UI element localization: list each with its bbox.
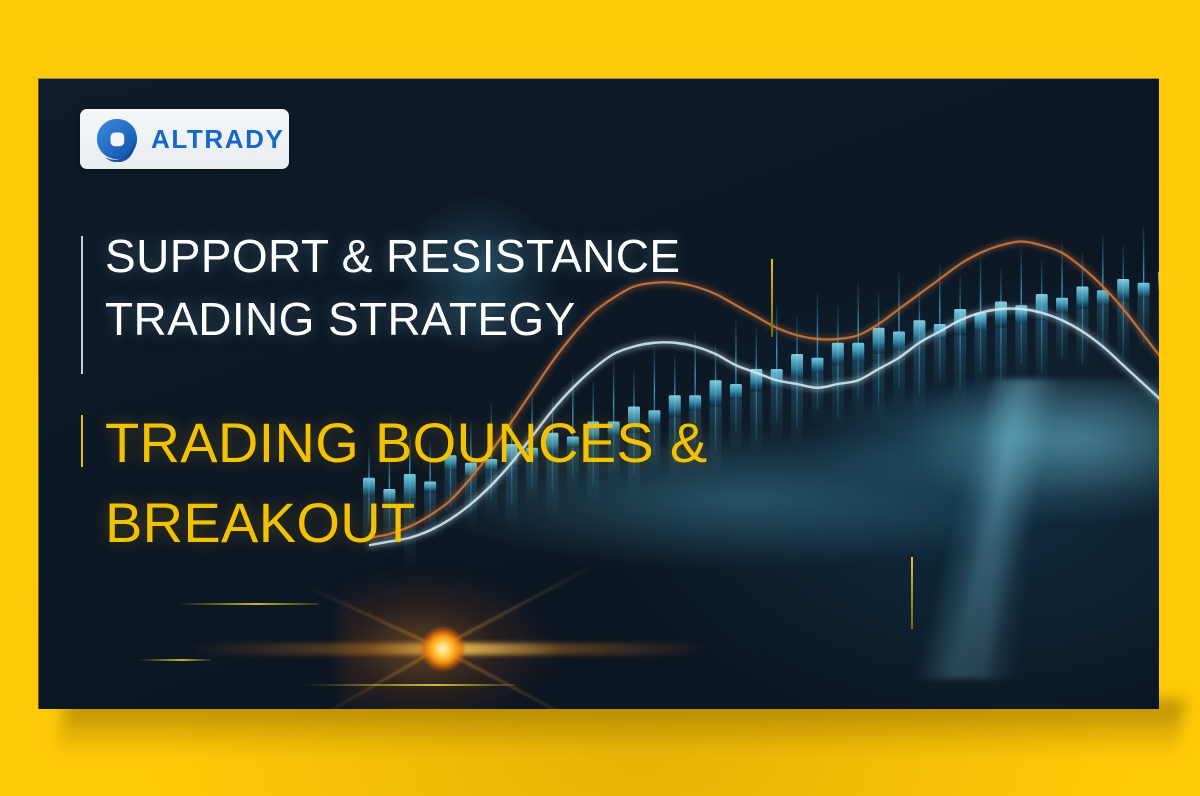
headline-primary-line-1: SUPPORT & RESISTANCE	[105, 225, 745, 288]
altrady-circle-logo-icon	[94, 116, 140, 162]
accent-rule-1	[179, 603, 319, 605]
headline-primary: SUPPORT & RESISTANCE TRADING STRATEGY	[105, 225, 745, 350]
chart-svg	[39, 79, 1159, 709]
headline-secondary-line-2: BREAKOUT	[105, 483, 785, 563]
headline-primary-line-2: TRADING STRATEGY	[105, 288, 745, 351]
headline-accent-bar-white	[81, 236, 83, 374]
poster-stage: ALTRADY SUPPORT & RESISTANCE TRADING STR…	[0, 0, 1200, 796]
accent-rule-2	[139, 659, 211, 661]
gold-marker-tick-1	[771, 259, 773, 337]
headline-secondary: TRADING BOUNCES & BREAKOUT	[105, 403, 785, 562]
accent-rule-3	[305, 684, 515, 686]
altrady-logo-text: ALTRADY	[151, 126, 284, 152]
headline-accent-bar-gold	[81, 415, 83, 467]
headline-secondary-line-1: TRADING BOUNCES &	[105, 403, 785, 483]
dark-banner-card: ALTRADY SUPPORT & RESISTANCE TRADING STR…	[38, 78, 1159, 709]
card-drop-shadow	[54, 700, 1185, 770]
candlestick-chart	[39, 79, 1159, 709]
altrady-logo[interactable]: ALTRADY	[80, 109, 289, 169]
gold-marker-tick-2	[911, 557, 913, 629]
